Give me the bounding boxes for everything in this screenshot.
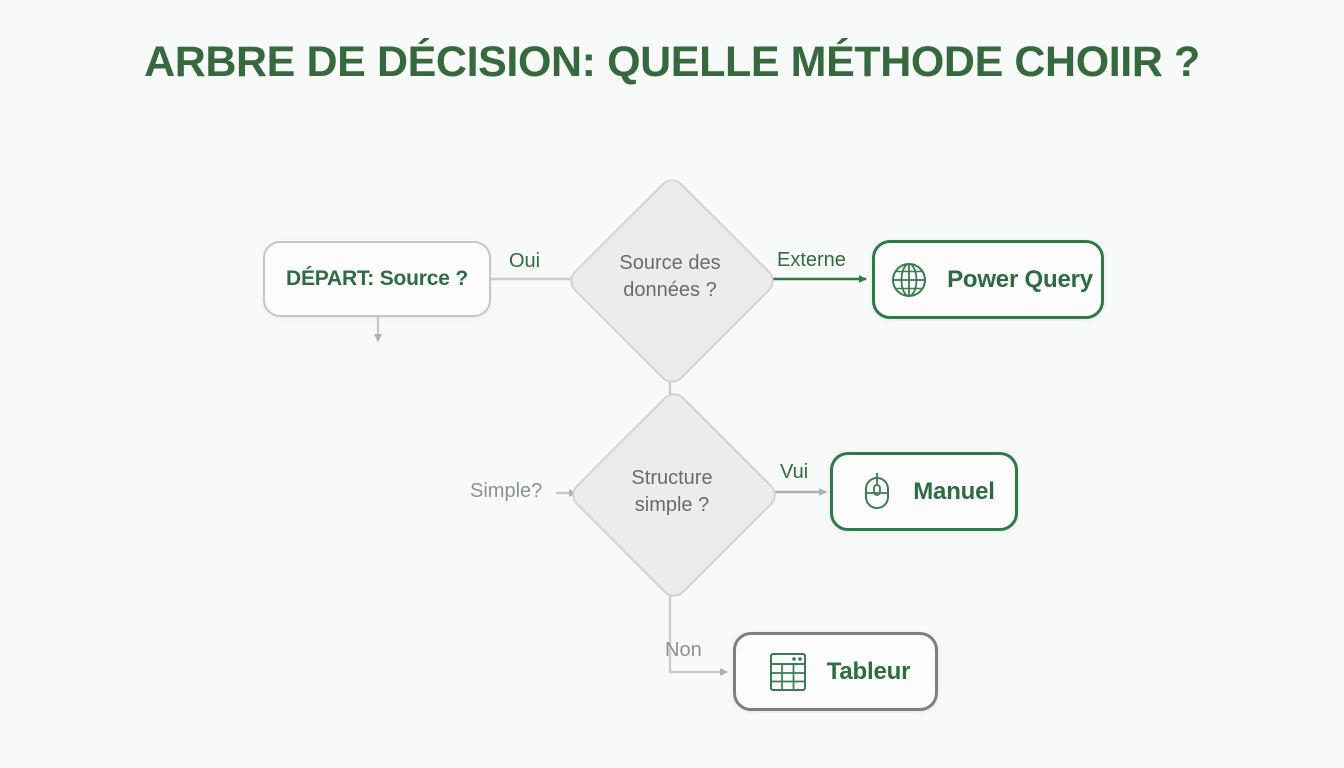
edge-label-oui: Oui <box>509 250 540 273</box>
node-power-query[interactable]: Power Query <box>872 240 1104 319</box>
edge-label-simple: Simple? <box>470 480 542 503</box>
node-decision-source-line1: Source des <box>570 250 770 277</box>
node-tableur[interactable]: Tableur <box>733 632 938 711</box>
table-icon <box>767 650 809 694</box>
node-manuel-label: Manuel <box>913 478 994 506</box>
node-start[interactable]: DÉPART: Source ? <box>263 241 491 317</box>
globe-icon <box>889 260 929 300</box>
mouse-icon <box>859 471 895 513</box>
edge-label-externe: Externe <box>777 249 846 272</box>
edge-label-vui: Vui <box>780 461 808 484</box>
edge-label-non: Non <box>665 639 702 662</box>
node-power-query-label: Power Query <box>947 266 1093 294</box>
node-tableur-label: Tableur <box>827 658 911 686</box>
page-title: ARBRE DE DÉCISION: QUELLE MÉTHODE CHOIIR… <box>0 38 1344 87</box>
node-decision-structure-line2: simple ? <box>572 492 772 519</box>
node-decision-source-line2: données ? <box>570 277 770 304</box>
diagram-canvas: ARBRE DE DÉCISION: QUELLE MÉTHODE CHOIIR… <box>0 0 1344 768</box>
node-decision-structure-line1: Structure <box>572 465 772 492</box>
node-start-label: DÉPART: Source ? <box>286 267 468 291</box>
node-manuel[interactable]: Manuel <box>830 452 1018 531</box>
node-decision-source-label: Source des données ? <box>570 250 770 303</box>
node-decision-structure-label: Structure simple ? <box>572 465 772 518</box>
